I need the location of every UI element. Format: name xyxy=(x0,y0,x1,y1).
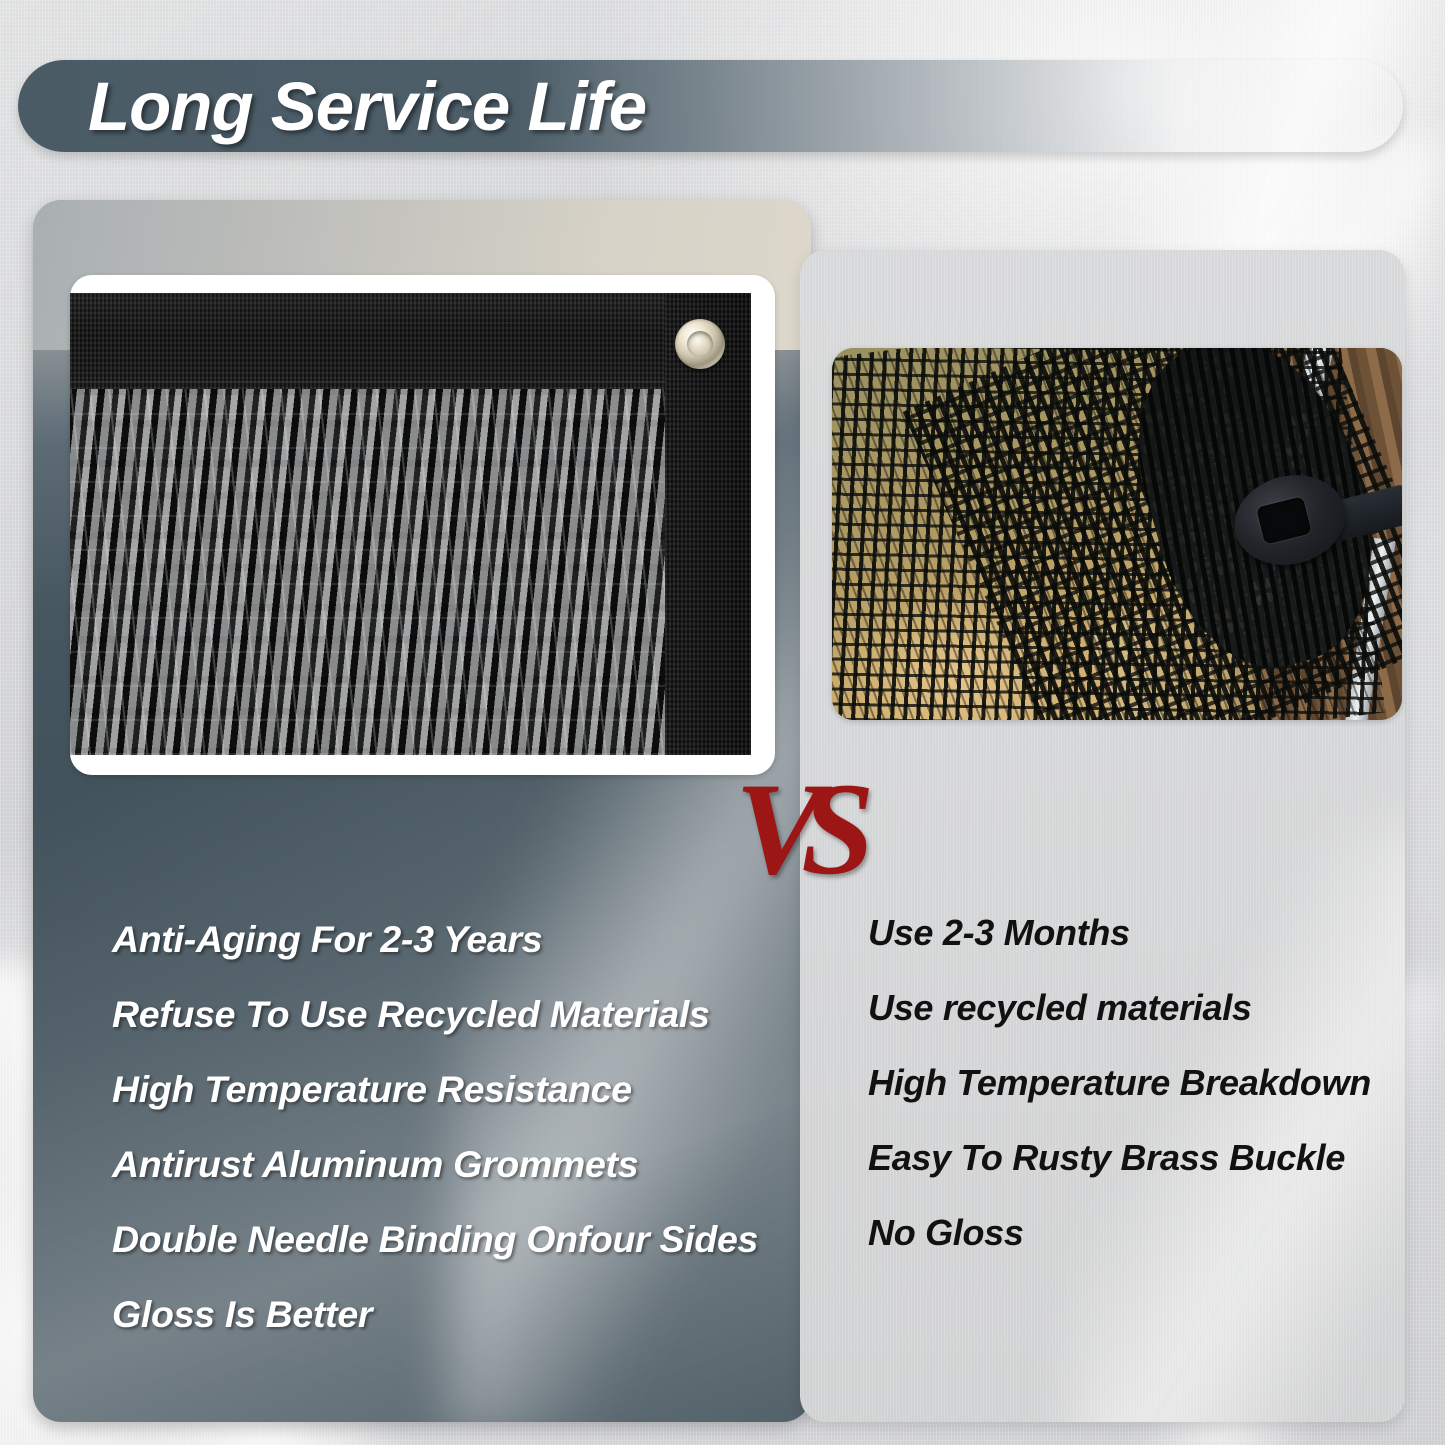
binding-seam xyxy=(70,381,751,384)
list-item: Anti-Aging For 2-3 Years xyxy=(112,918,792,961)
degraded-net-photo xyxy=(832,348,1402,720)
list-item: Double Needle Binding Onfour Sides xyxy=(112,1218,792,1261)
buckle-slot xyxy=(1256,496,1312,544)
good-feature-list: Anti-Aging For 2-3 Years Refuse To Use R… xyxy=(112,918,792,1368)
aluminum-grommet-icon xyxy=(675,319,725,369)
list-item: Use 2-3 Months xyxy=(868,912,1428,954)
list-item: High Temperature Breakdown xyxy=(868,1062,1428,1104)
list-item: No Gloss xyxy=(868,1212,1428,1254)
good-product-photo-frame xyxy=(70,275,775,775)
list-item: Refuse To Use Recycled Materials xyxy=(112,993,792,1036)
list-item: Use recycled materials xyxy=(868,987,1428,1029)
list-item: Easy To Rusty Brass Buckle xyxy=(868,1137,1428,1179)
shade-cloth-photo xyxy=(70,293,751,755)
grommet-hole xyxy=(687,331,713,357)
bad-feature-list: Use 2-3 Months Use recycled materials Hi… xyxy=(868,912,1428,1287)
mesh-gloss-highlight xyxy=(70,389,665,755)
fabric-binding-band xyxy=(70,293,751,389)
list-item: Gloss Is Better xyxy=(112,1293,792,1336)
list-item: High Temperature Resistance xyxy=(112,1068,792,1111)
vs-badge: VS xyxy=(735,770,865,890)
page-title: Long Service Life xyxy=(88,60,988,152)
infographic-canvas: Long Service Life xyxy=(0,0,1445,1445)
list-item: Antirust Aluminum Grommets xyxy=(112,1143,792,1186)
